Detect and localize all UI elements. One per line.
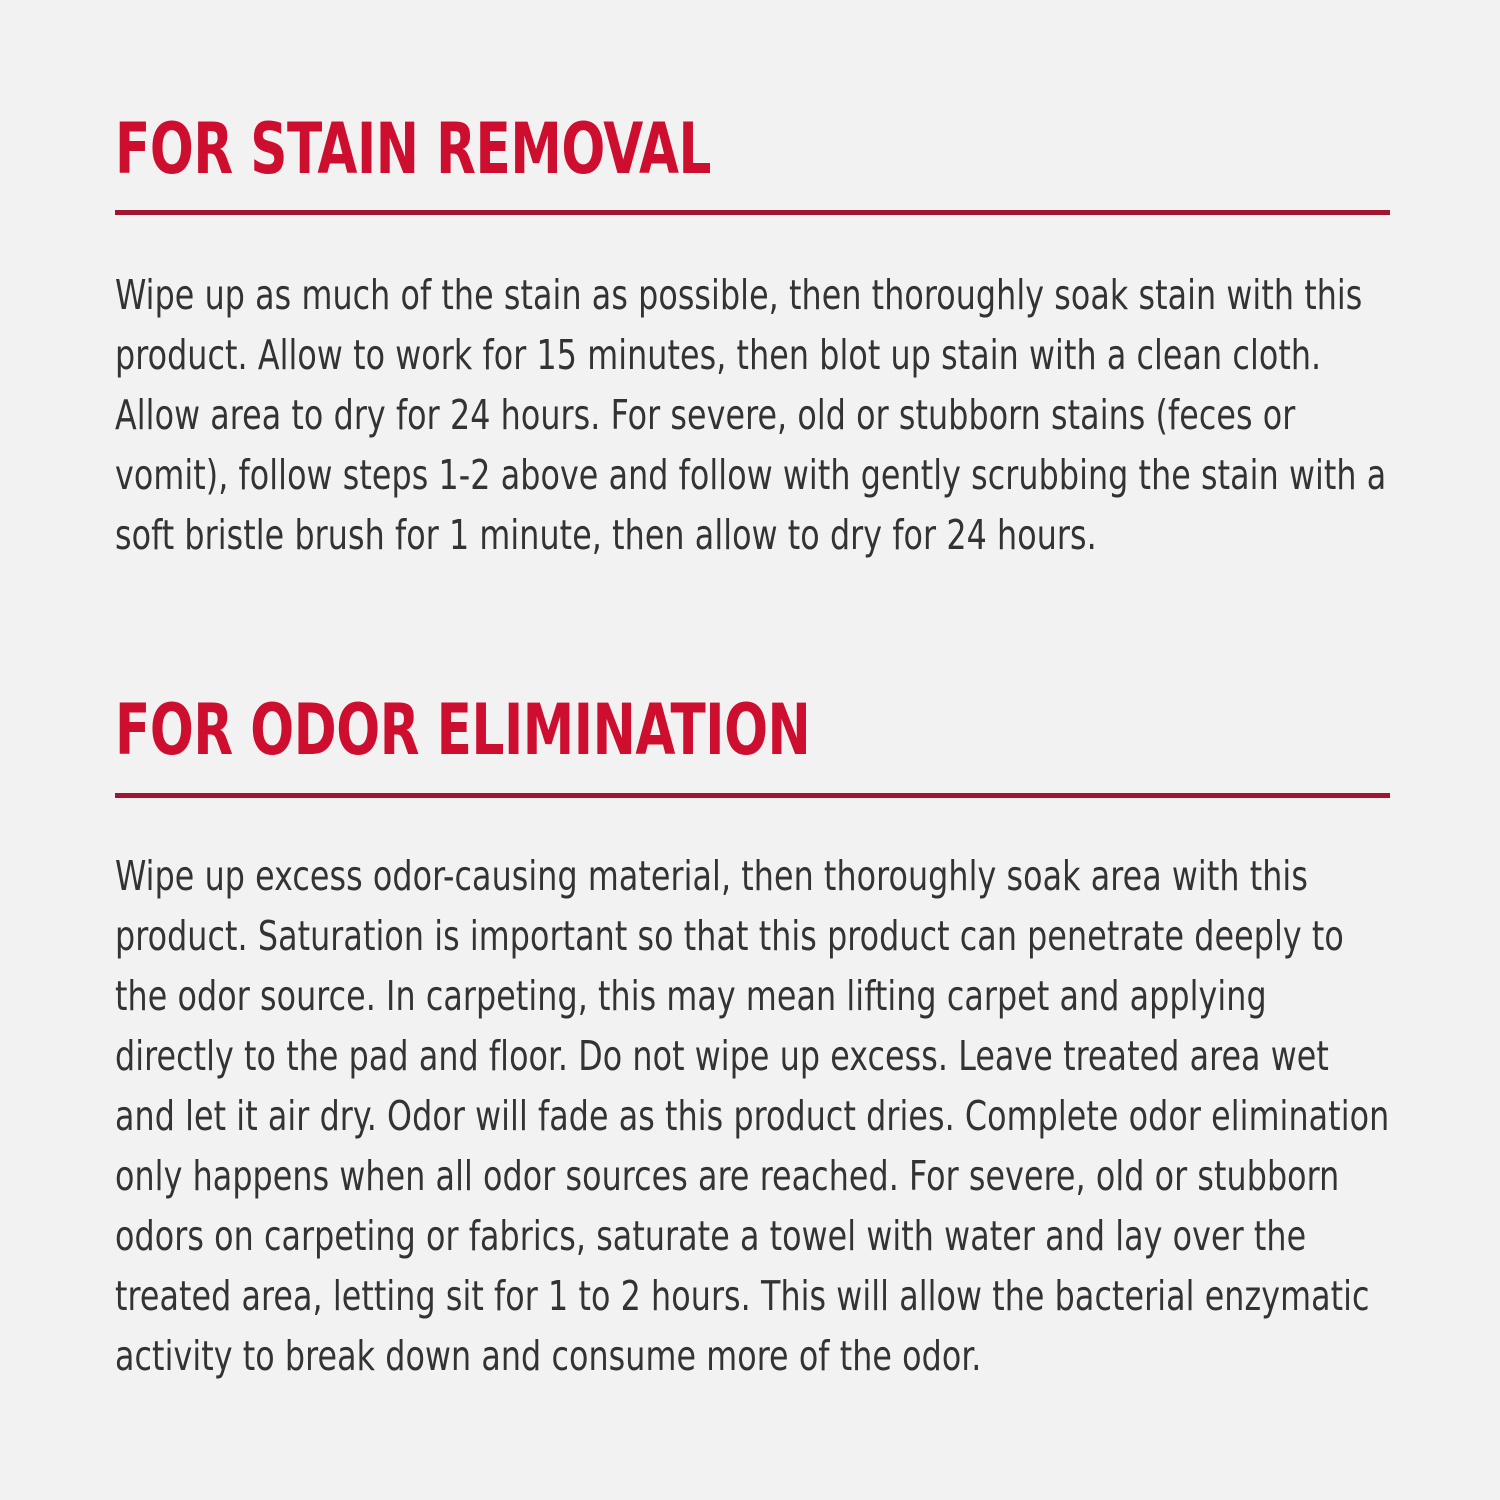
section-divider-stain-removal	[115, 210, 1390, 215]
section-stain-removal: FOR STAIN REMOVAL Wipe up as much of the…	[115, 112, 1390, 565]
section-body-stain-removal: Wipe up as much of the stain as possible…	[115, 265, 1390, 565]
section-divider-odor-elimination	[115, 793, 1390, 798]
section-odor-elimination: FOR ODOR ELIMINATION Wipe up excess odor…	[115, 693, 1390, 1386]
section-heading-stain-removal: FOR STAIN REMOVAL	[115, 112, 1161, 186]
section-heading-odor-elimination: FOR ODOR ELIMINATION	[115, 693, 1161, 767]
instructions-page: FOR STAIN REMOVAL Wipe up as much of the…	[0, 0, 1500, 1500]
section-body-odor-elimination: Wipe up excess odor-causing material, th…	[115, 846, 1390, 1386]
